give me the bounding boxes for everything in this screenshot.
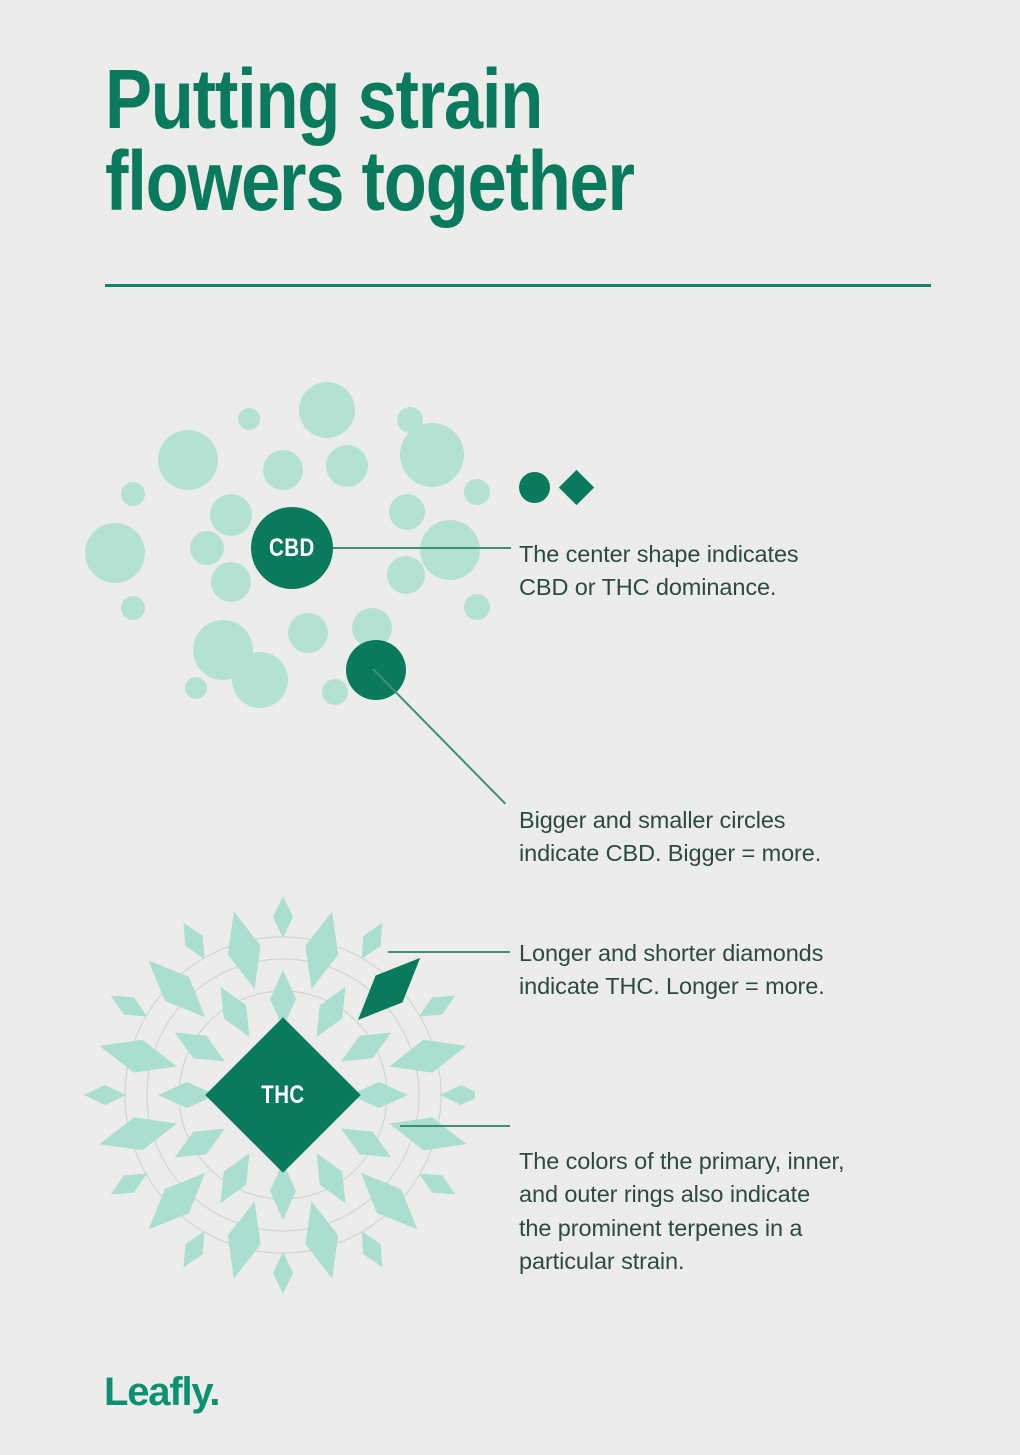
cbd-center-label: CBD <box>269 534 315 563</box>
cbd-petal-circle <box>464 479 490 505</box>
thc-petal-middle <box>295 1197 349 1283</box>
cbd-petal-circle <box>389 494 425 530</box>
cbd-petal-circle <box>85 523 145 583</box>
cbd-petal-circle <box>211 562 251 602</box>
cbd-petal-circle <box>238 408 260 430</box>
diamond-marker-icon <box>559 470 594 505</box>
thc-petal-middle <box>385 1029 471 1083</box>
circle-marker-icon <box>519 472 550 503</box>
cbd-petal-circle <box>190 531 224 565</box>
thc-petal-inner <box>335 1021 398 1073</box>
note-ring-colors: The colors of the primary, inner, and ou… <box>519 1145 949 1278</box>
connector-line-thc-rings <box>400 1125 510 1127</box>
thc-petal-outer <box>84 1085 126 1105</box>
thc-petal-inner <box>168 1021 231 1073</box>
note-diamond-length: Longer and shorter diamonds indicate THC… <box>519 937 949 1004</box>
cbd-petal-circle <box>232 652 288 708</box>
cbd-petal-circle <box>326 445 368 487</box>
page-title: Putting strain flowers together <box>105 58 743 223</box>
thc-center-label: THC <box>261 1080 304 1109</box>
thc-petal-middle <box>349 1161 430 1242</box>
thc-petal-outer <box>175 1226 213 1272</box>
infographic-page: Putting strain flowers together CBD THC … <box>0 0 1020 1455</box>
thc-petal-inner <box>209 1147 261 1210</box>
connector-line-cbd-highlight <box>372 668 506 804</box>
leafly-logo: Leafly. <box>104 1370 219 1415</box>
note-circle-size: Bigger and smaller circles indicate CBD.… <box>519 804 949 871</box>
thc-petal-outer <box>273 896 293 938</box>
thc-petal-middle <box>295 907 349 993</box>
thc-petal-outer <box>106 987 152 1025</box>
cbd-petal-circle <box>158 430 218 490</box>
cbd-petal-circle <box>420 520 480 580</box>
thc-petal-outer <box>353 1226 391 1272</box>
cbd-petal-circle <box>400 423 464 487</box>
cbd-petal-circle <box>387 556 425 594</box>
cbd-petal-circle <box>185 677 207 699</box>
thc-petal-outer <box>414 1165 460 1203</box>
cbd-petal-circle <box>210 494 252 536</box>
thc-petal-outer <box>106 1165 152 1203</box>
thc-petal-middle <box>137 1161 218 1242</box>
thc-petal-outer <box>273 1252 293 1294</box>
thc-petal-middle <box>137 949 218 1030</box>
connector-line-thc-petal <box>388 951 510 953</box>
thc-petal-middle <box>95 1029 181 1083</box>
cbd-center-circle: CBD <box>251 507 333 589</box>
thc-petal-inner <box>168 1117 231 1169</box>
legend-shapes <box>519 472 589 503</box>
cbd-petal-circle <box>322 679 348 705</box>
note-center-shape: The center shape indicates CBD or THC do… <box>519 538 949 605</box>
thc-petal-middle <box>95 1107 181 1161</box>
thc-petal-middle <box>385 1107 471 1161</box>
thc-highlight-petal <box>345 944 434 1033</box>
connector-line-cbd-center <box>333 547 511 549</box>
title-divider <box>105 284 931 287</box>
thc-petal-inner <box>335 1117 398 1169</box>
thc-petal-outer <box>440 1085 475 1105</box>
thc-petal-inner <box>305 1147 357 1210</box>
cbd-petal-circle <box>263 450 303 490</box>
thc-flower-diagram: THC <box>55 895 475 1295</box>
cbd-petal-circle <box>121 596 145 620</box>
thc-petal-outer <box>353 918 391 964</box>
thc-petal-inner <box>209 980 261 1043</box>
cbd-petal-circle <box>464 594 490 620</box>
thc-petal-middle <box>217 1197 271 1283</box>
thc-petal-outer <box>175 918 213 964</box>
cbd-circle-cluster: CBD <box>85 370 435 710</box>
thc-petal-inner <box>305 980 357 1043</box>
thc-petal-middle <box>217 907 271 993</box>
cbd-petal-circle <box>121 482 145 506</box>
cbd-petal-circle <box>288 613 328 653</box>
cbd-petal-circle <box>299 382 355 438</box>
thc-petal-outer <box>414 987 460 1025</box>
